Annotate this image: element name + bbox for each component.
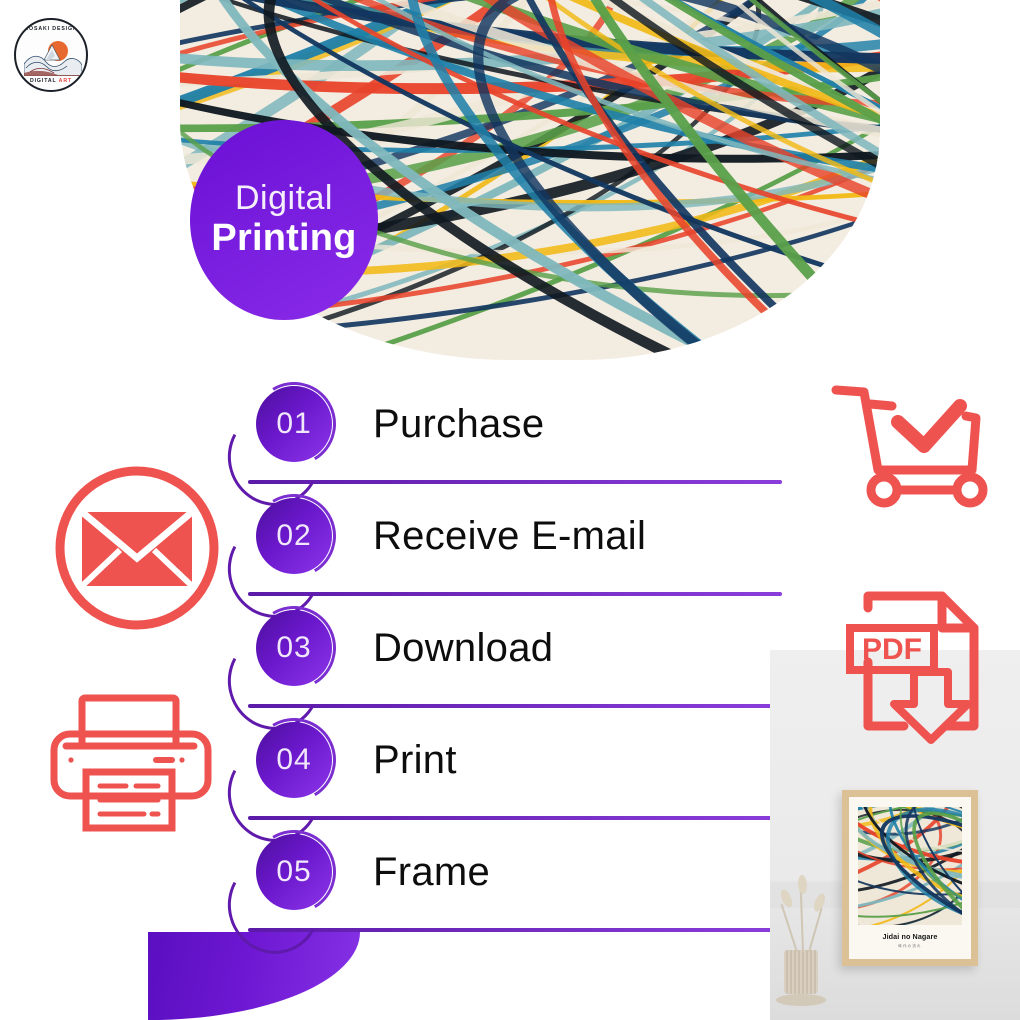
step-label: Print xyxy=(373,724,457,796)
brand-logo[interactable]: KOSAKI DESIGN DIGITAL ART xyxy=(14,18,88,92)
logo-inner: KOSAKI DESIGN DIGITAL ART xyxy=(16,20,86,90)
vase-base xyxy=(776,994,826,1006)
poster-subtitle: 時代の流れ xyxy=(858,943,962,948)
pdf-download-icon: PDF xyxy=(846,578,996,746)
poster-title: Jidai no Nagare xyxy=(858,932,962,941)
logo-top-text: KOSAKI DESIGN xyxy=(16,26,86,32)
envelope-circle-icon xyxy=(44,464,230,632)
shopping-cart-check-icon xyxy=(826,378,1006,508)
badge-line-one: Digital xyxy=(235,181,333,217)
frame-mat: Jidai no Nagare 時代の流れ xyxy=(849,797,971,959)
poster-canvas: KOSAKI DESIGN DIGITAL ART Digital Printi… xyxy=(0,0,1020,1020)
digital-printing-badge: Digital Printing xyxy=(190,120,378,320)
poster-artwork xyxy=(858,807,962,925)
pdf-label: PDF xyxy=(862,633,922,666)
step-divider xyxy=(248,816,782,820)
picture-frame: Jidai no Nagare 時代の流れ xyxy=(842,790,978,966)
step-label: Frame xyxy=(373,836,490,908)
step-number-circle: 02 xyxy=(256,498,332,574)
step-label: Purchase xyxy=(373,388,544,460)
vase xyxy=(784,950,818,994)
pod-2 xyxy=(797,875,807,895)
step-label: Download xyxy=(373,612,553,684)
step-divider xyxy=(248,704,782,708)
logo-bottom-text: DIGITAL ART xyxy=(16,78,86,84)
logo-bottom-word: DIGITAL xyxy=(30,78,57,84)
step-number-circle: 05 xyxy=(256,834,332,910)
logo-bottom-accent: ART xyxy=(59,78,72,84)
step-number-circle: 04 xyxy=(256,722,332,798)
step-number-circle: 01 xyxy=(256,386,332,462)
step-number-circle: 03 xyxy=(256,610,332,686)
badge-line-two: Printing xyxy=(211,219,356,259)
step-divider xyxy=(248,480,782,484)
step-divider xyxy=(248,592,782,596)
hokusai-wave-icon xyxy=(24,38,82,76)
printer-icon xyxy=(46,690,216,836)
step-label: Receive E-mail xyxy=(373,500,646,572)
